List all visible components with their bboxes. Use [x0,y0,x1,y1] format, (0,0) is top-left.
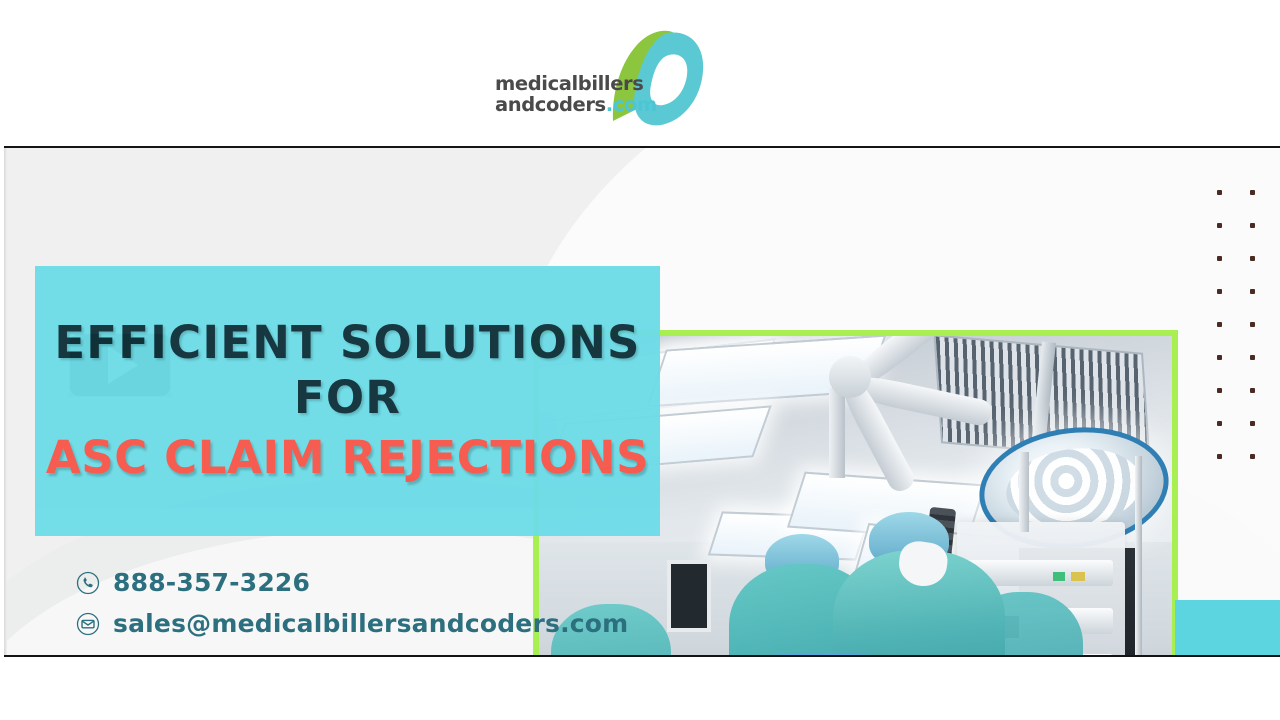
headline-line-3: ASC CLAIM REJECTIONS [46,435,649,481]
contact-block: 888-357-3226 sales@medicalbillersandcode… [76,568,628,638]
equipment-indicator-yellow [1071,572,1085,581]
phone-icon [76,571,100,595]
grid-dot [1250,421,1255,426]
header-band: medicalbillers andcoders.com [0,0,1280,146]
email-address: sales@medicalbillersandcoders.com [113,609,628,638]
grid-dot [1217,421,1222,426]
phone-number: 888-357-3226 [113,568,310,597]
contact-phone-row[interactable]: 888-357-3226 [76,568,628,597]
grid-dot [1250,190,1255,195]
grid-dot [1217,355,1222,360]
equipment-pole [1019,452,1029,532]
envelope-icon [76,612,100,636]
ceiling-fan-hub [829,356,871,398]
logo-line-2: andcoders [495,93,606,116]
grid-dot [1217,322,1222,327]
banner-left-edge [4,148,7,655]
grid-dot [1217,289,1222,294]
iv-pole [1135,456,1142,657]
site-logo[interactable]: medicalbillers andcoders.com [495,25,715,125]
logo-line-1: medicalbillers [495,72,643,95]
grid-dot [1250,454,1255,459]
ceiling-fan-pole [829,388,845,478]
grid-dot [1250,223,1255,228]
grid-dot [1250,388,1255,393]
decorative-dot-grid [1217,190,1280,487]
logo-dotcom: .com [606,93,657,116]
grid-dot [1217,388,1222,393]
grid-dot [1250,289,1255,294]
grid-dot [1217,223,1222,228]
promo-banner: EFFICIENT SOLUTIONS FOR ASC CLAIM REJECT… [4,146,1280,657]
logo-wordmark: medicalbillers andcoders.com [495,73,645,115]
grid-dot [1217,256,1222,261]
grid-dot [1250,355,1255,360]
grid-dot [1217,190,1222,195]
page-root: medicalbillers andcoders.com [0,0,1280,720]
wall-window [667,560,711,632]
grid-dot [1250,322,1255,327]
grid-dot [1250,256,1255,261]
grid-dot [1217,454,1222,459]
decorative-teal-block [1175,600,1280,657]
headline-line-1: EFFICIENT SOLUTIONS [54,320,640,366]
headline-line-2: FOR [294,375,401,421]
equipment-indicator-green [1053,572,1065,581]
headline-panel: EFFICIENT SOLUTIONS FOR ASC CLAIM REJECT… [35,266,660,536]
contact-email-row[interactable]: sales@medicalbillersandcoders.com [76,609,628,638]
